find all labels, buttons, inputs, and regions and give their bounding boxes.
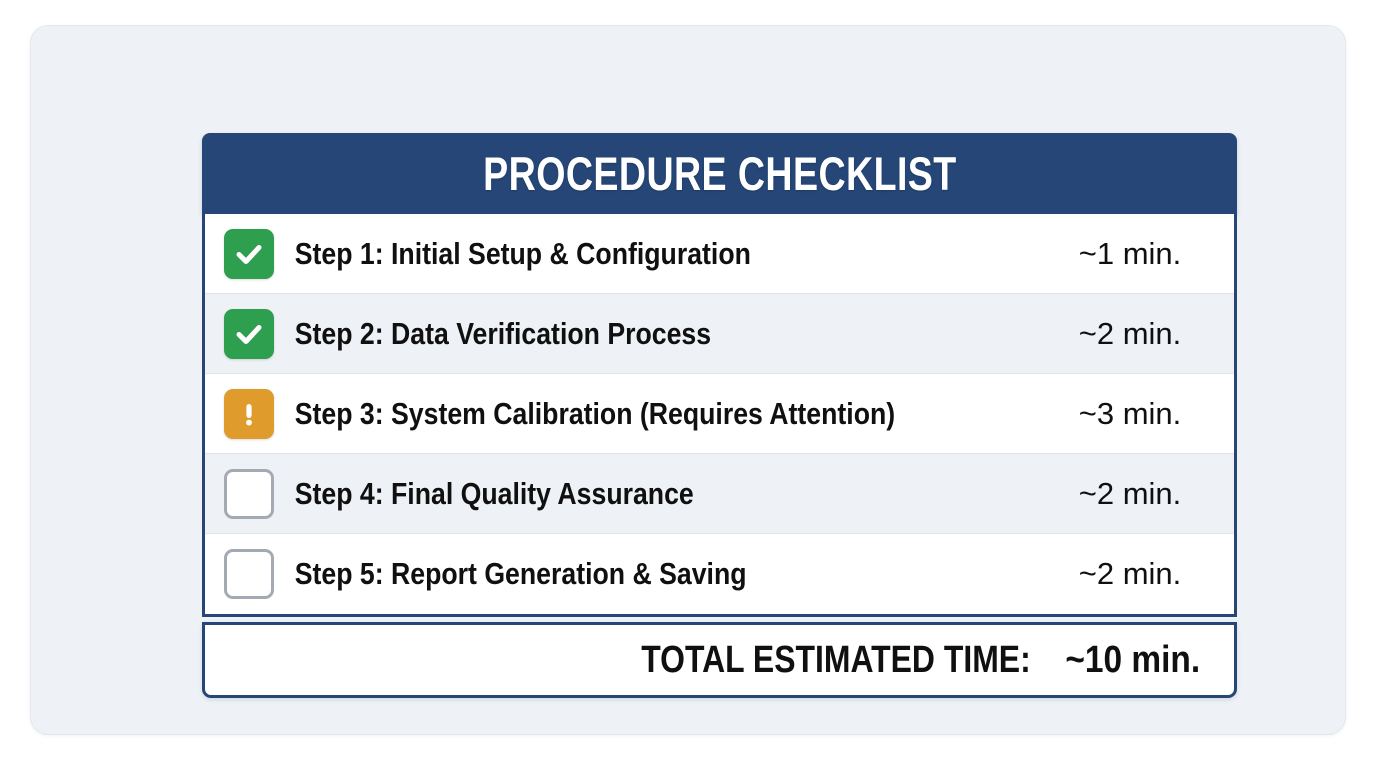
checklist-row[interactable]: Step 5: Report Generation & Saving ~2 mi… bbox=[205, 534, 1234, 614]
status-cell bbox=[205, 309, 293, 359]
check-icon[interactable] bbox=[224, 309, 274, 359]
checklist-header: PROCEDURE CHECKLIST bbox=[202, 133, 1237, 214]
status-cell bbox=[205, 469, 293, 519]
step-label: Step 1: Initial Setup & Configuration bbox=[293, 236, 930, 272]
step-label: Step 2: Data Verification Process bbox=[293, 316, 930, 352]
step-time: ~2 min. bbox=[1034, 556, 1234, 592]
total-label: TOTAL ESTIMATED TIME: bbox=[641, 639, 1031, 682]
empty-checkbox-icon[interactable] bbox=[224, 469, 274, 519]
exclamation-icon[interactable] bbox=[224, 389, 274, 439]
checklist-row[interactable]: Step 2: Data Verification Process ~2 min… bbox=[205, 294, 1234, 374]
check-icon[interactable] bbox=[224, 229, 274, 279]
checklist-row[interactable]: Step 1: Initial Setup & Configuration ~1… bbox=[205, 214, 1234, 294]
checklist-title: PROCEDURE CHECKLIST bbox=[483, 146, 956, 201]
step-label: Step 3: System Calibration (Requires Att… bbox=[293, 396, 930, 432]
step-time: ~1 min. bbox=[1034, 236, 1234, 272]
step-time: ~2 min. bbox=[1034, 316, 1234, 352]
checklist-row[interactable]: Step 4: Final Quality Assurance ~2 min. bbox=[205, 454, 1234, 534]
checklist-rows: Step 1: Initial Setup & Configuration ~1… bbox=[202, 214, 1237, 617]
procedure-checklist-card: PROCEDURE CHECKLIST Step 1: Initial Setu… bbox=[202, 133, 1237, 698]
status-cell bbox=[205, 549, 293, 599]
status-cell bbox=[205, 389, 293, 439]
step-time: ~2 min. bbox=[1034, 476, 1234, 512]
status-cell bbox=[205, 229, 293, 279]
step-time: ~3 min. bbox=[1034, 396, 1234, 432]
total-value: ~10 min. bbox=[1065, 639, 1200, 682]
step-label: Step 5: Report Generation & Saving bbox=[293, 556, 930, 592]
background-panel: PROCEDURE CHECKLIST Step 1: Initial Setu… bbox=[30, 25, 1346, 735]
step-label: Step 4: Final Quality Assurance bbox=[293, 476, 930, 512]
empty-checkbox-icon[interactable] bbox=[224, 549, 274, 599]
total-row: TOTAL ESTIMATED TIME: ~10 min. bbox=[202, 622, 1237, 698]
checklist-row[interactable]: Step 3: System Calibration (Requires Att… bbox=[205, 374, 1234, 454]
